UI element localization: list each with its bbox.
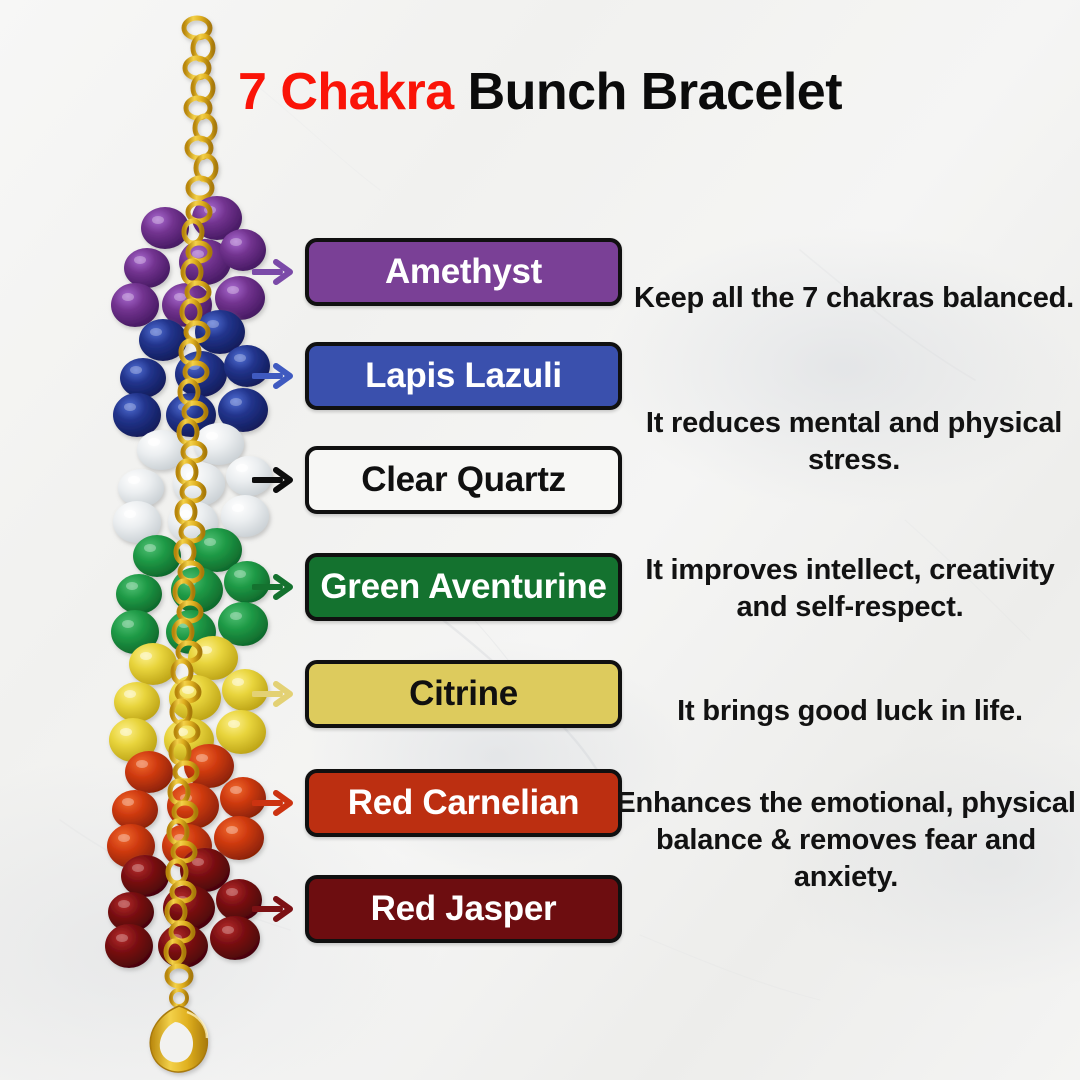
stone-label-text: Lapis Lazuli bbox=[365, 356, 562, 396]
stone-label-box: Clear Quartz bbox=[305, 446, 622, 514]
chain-top bbox=[184, 18, 216, 198]
arrow-right-icon bbox=[252, 786, 296, 820]
stone-label-text: Clear Quartz bbox=[361, 460, 566, 500]
stone-row-red-carnelian: Red Carnelian bbox=[252, 769, 622, 837]
stone-label-box: Amethyst bbox=[305, 238, 622, 306]
stone-row-clear-quartz: Clear Quartz bbox=[252, 446, 622, 514]
stone-row-lapis-lazuli: Lapis Lazuli bbox=[252, 342, 622, 410]
arrow-right-icon bbox=[252, 892, 296, 926]
arrow-right-icon bbox=[252, 677, 296, 711]
benefit-text-good-luck: It brings good luck in life. bbox=[620, 693, 1080, 730]
lobster-clasp bbox=[150, 966, 207, 1072]
stone-row-red-jasper: Red Jasper bbox=[252, 875, 622, 943]
stone-label-text: Amethyst bbox=[385, 252, 542, 292]
benefit-text-emotional-balance: Enhances the emotional, physical balance… bbox=[612, 785, 1080, 896]
arrow-right-icon bbox=[252, 255, 296, 289]
stone-label-box: Citrine bbox=[305, 660, 622, 728]
stone-label-text: Red Carnelian bbox=[348, 783, 579, 823]
stone-row-green-aventurine: Green Aventurine bbox=[252, 553, 622, 621]
stone-label-text: Red Jasper bbox=[371, 889, 557, 929]
arrow-right-icon bbox=[252, 359, 296, 393]
stone-label-box: Lapis Lazuli bbox=[305, 342, 622, 410]
benefit-text-stress-relief: It reduces mental and physical stress. bbox=[628, 405, 1080, 479]
arrow-right-icon bbox=[252, 570, 296, 604]
stone-row-citrine: Citrine bbox=[252, 660, 622, 728]
stone-row-amethyst: Amethyst bbox=[252, 238, 622, 306]
title-plain: Bunch Bracelet bbox=[454, 63, 842, 121]
arrow-right-icon bbox=[252, 463, 296, 497]
stone-label-box: Green Aventurine bbox=[305, 553, 622, 621]
stone-label-text: Green Aventurine bbox=[320, 567, 606, 607]
stone-label-box: Red Jasper bbox=[305, 875, 622, 943]
stone-label-box: Red Carnelian bbox=[305, 769, 622, 837]
benefit-text-chakra-balance: Keep all the 7 chakras balanced. bbox=[628, 280, 1080, 317]
stone-label-text: Citrine bbox=[409, 674, 518, 714]
benefit-text-intellect: It improves intellect, creativity and se… bbox=[620, 552, 1080, 626]
